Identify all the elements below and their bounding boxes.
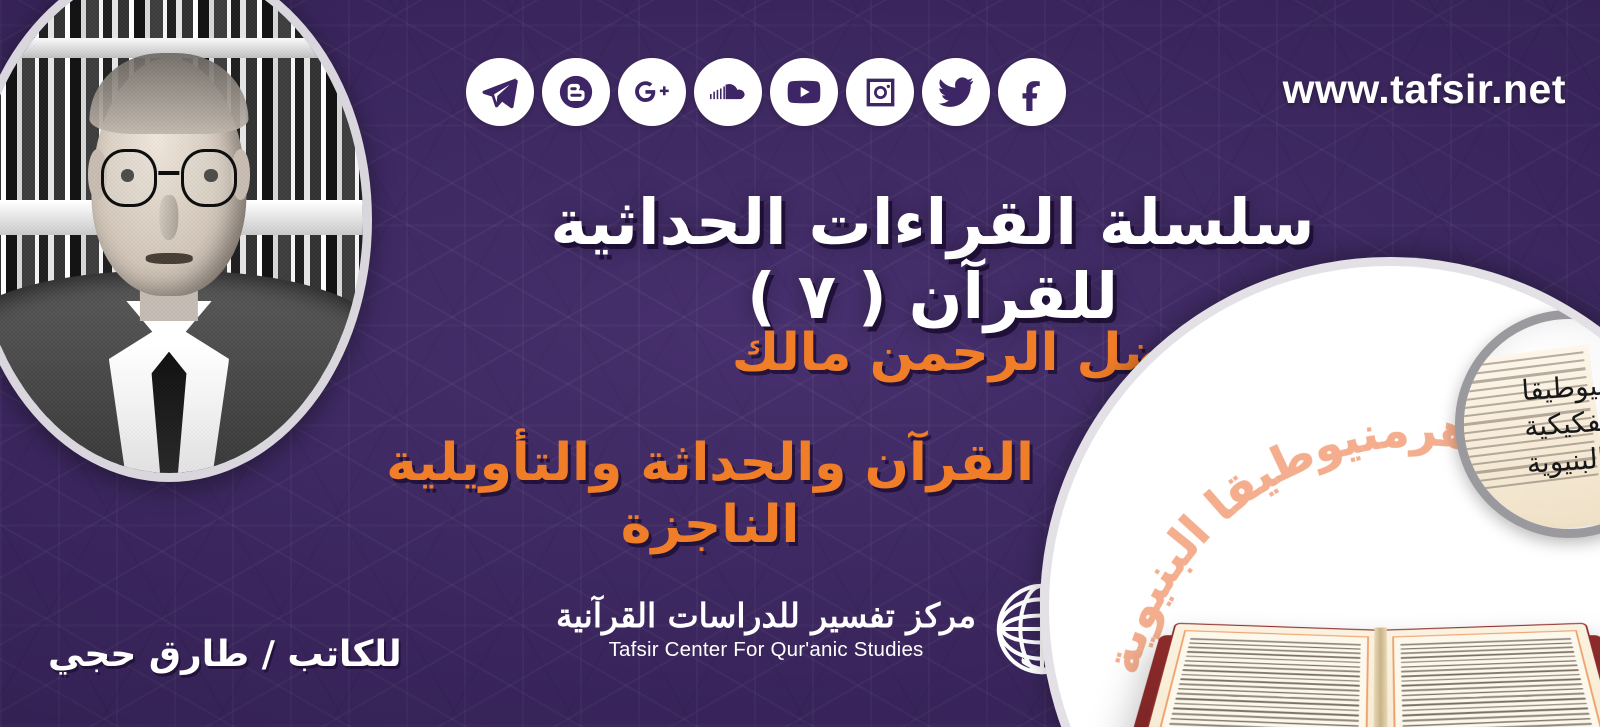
writer-credit: للكاتب / طارق حجي — [48, 634, 402, 675]
book-page-right: ٣٢٣ — [1381, 623, 1600, 727]
youtube-icon[interactable] — [770, 58, 838, 126]
author-portrait-photo — [0, 0, 363, 473]
magnifier-lens: هرمنيوطيقا التفكيكية البنيوية — [1455, 310, 1600, 538]
book-spine — [1373, 628, 1389, 727]
magnifier-text-block: هرمنيوطيقا التفكيكية البنيوية — [1457, 312, 1600, 536]
twitter-icon[interactable] — [922, 58, 990, 126]
magnifier-line-3: البنيوية — [1526, 442, 1600, 479]
logo-arabic-name: مركز تفسير للدراسات القرآنية — [556, 596, 976, 635]
tafsir-center-logo[interactable]: مركز تفسير للدراسات القرآنية Tafsir Cent… — [556, 575, 1096, 683]
website-url[interactable]: www.tafsir.net — [1283, 66, 1566, 113]
magnifying-glass-icon: هرمنيوطيقا التفكيكية البنيوية — [1455, 310, 1600, 538]
social-links-row — [466, 58, 1066, 126]
book-subtitle: القرآن والحداثة والتأويلية الناجزة — [350, 432, 1070, 557]
logo-text-block: مركز تفسير للدراسات القرآنية Tafsir Cent… — [556, 596, 976, 662]
blogger-icon[interactable] — [542, 58, 610, 126]
instagram-icon[interactable] — [846, 58, 914, 126]
facebook-icon[interactable] — [998, 58, 1066, 126]
author-portrait-frame — [0, 0, 372, 482]
googleplus-icon[interactable] — [618, 58, 686, 126]
telegram-icon[interactable] — [466, 58, 534, 126]
banner-root: www.tafsir.net سلسلة القراءات الحداثية ل… — [0, 0, 1600, 727]
magnifier-line-1: هرمنيوطيقا — [1520, 366, 1600, 406]
book-page-right-surface: ٣٢٣ — [1392, 630, 1600, 727]
photo-grain-overlay — [0, 0, 363, 473]
soundcloud-icon[interactable] — [694, 58, 762, 126]
logo-english-name: Tafsir Center For Qur'anic Studies — [609, 638, 924, 662]
magnifier-line-2: التفكيكية — [1523, 404, 1600, 442]
open-quran-book: ٣٢٤ ٣٢٣ — [1110, 630, 1600, 727]
